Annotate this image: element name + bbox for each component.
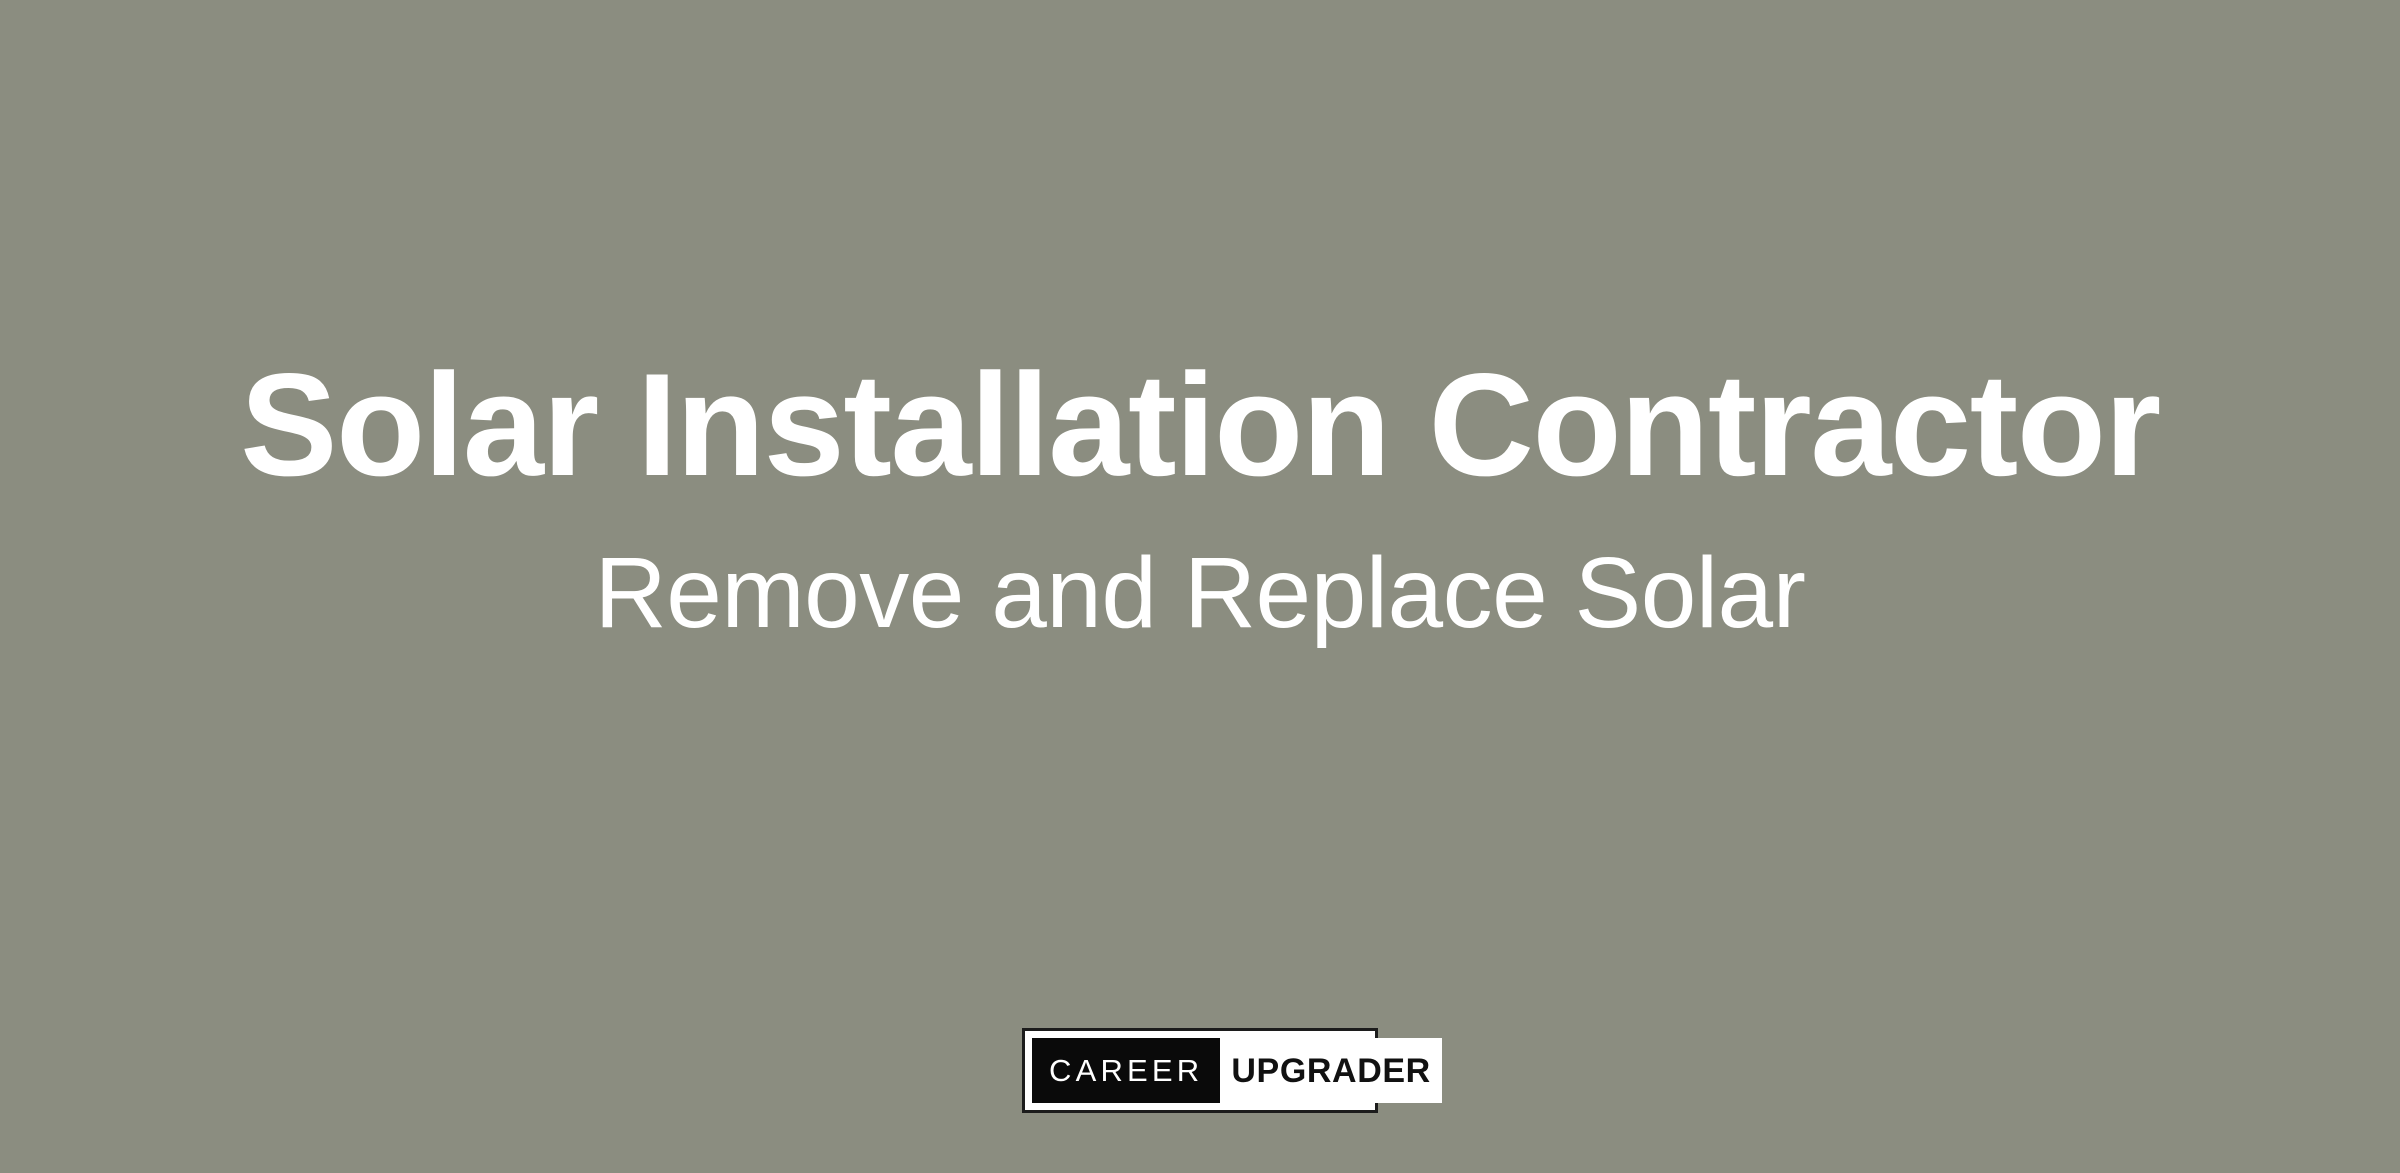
- brand-logo-primary-block: CAREER: [1032, 1038, 1220, 1103]
- page-title: Solar Installation Contractor: [0, 352, 2400, 498]
- brand-logo-secondary-block: UPGRADER: [1220, 1038, 1441, 1103]
- brand-logo-secondary-label: UPGRADER: [1231, 1054, 1430, 1088]
- brand-logo-primary-label: CAREER: [1049, 1055, 1203, 1086]
- brand-logo: CAREER UPGRADER: [1022, 1028, 1378, 1113]
- title-slide: Solar Installation Contractor Remove and…: [0, 0, 2400, 1173]
- page-subtitle: Remove and Replace Solar: [0, 543, 2400, 643]
